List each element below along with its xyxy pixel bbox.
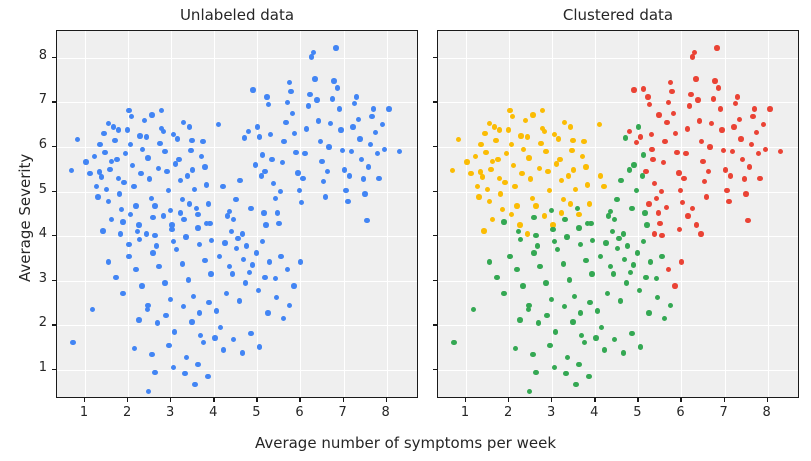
y-tick-mark [52, 324, 56, 325]
scatter-point [137, 237, 142, 242]
scatter-point [598, 173, 603, 178]
scatter-point [218, 325, 223, 330]
scatter-point [767, 106, 772, 111]
scatter-point [507, 254, 512, 259]
scatter-point [731, 124, 736, 129]
scatter-point [243, 280, 248, 285]
scatter-point [517, 222, 522, 227]
scatter-point [456, 137, 461, 142]
scatter-point [234, 246, 239, 251]
y-tick-mark [433, 324, 437, 325]
scatter-point [204, 182, 209, 187]
scatter-point [533, 203, 538, 208]
y-tick-mark [52, 101, 56, 102]
scatter-point [526, 307, 531, 312]
scatter-point [149, 112, 154, 117]
scatter-point [260, 239, 265, 244]
gridline-horizontal [57, 370, 417, 371]
scatter-point [699, 139, 704, 144]
scatter-point [638, 344, 643, 349]
scatter-point [206, 201, 211, 206]
scatter-point [641, 86, 646, 91]
scatter-point [382, 147, 387, 152]
scatter-point [602, 347, 607, 352]
y-tick-label: 3 [23, 271, 47, 286]
scatter-point [271, 181, 276, 186]
scatter-point [173, 161, 178, 166]
x-tick-label: 4 [201, 405, 225, 420]
scatter-point [281, 139, 286, 144]
scatter-point [563, 371, 568, 376]
y-tick-label: 4 [23, 226, 47, 241]
scatter-point [500, 207, 505, 212]
scatter-point [587, 300, 592, 305]
scatter-point [750, 114, 755, 119]
scatter-point [376, 176, 381, 181]
scatter-point [612, 337, 617, 342]
y-tick-mark [433, 101, 437, 102]
scatter-point [198, 333, 203, 338]
scatter-point [646, 201, 651, 206]
scatter-point [544, 313, 549, 318]
scatter-point [562, 217, 567, 222]
x-tick-mark [724, 398, 725, 402]
scatter-point [464, 159, 469, 164]
scatter-point [624, 280, 629, 285]
scatter-point [695, 97, 700, 102]
scatter-point [666, 267, 671, 272]
scatter-point [185, 173, 190, 178]
scatter-point [628, 270, 633, 275]
scatter-point [114, 157, 119, 162]
x-tick-label: 8 [374, 405, 398, 420]
scatter-point [180, 261, 185, 266]
scatter-point [171, 365, 176, 370]
scatter-point [164, 169, 169, 174]
scatter-point [152, 370, 157, 375]
scatter-point [569, 148, 574, 153]
scatter-point [119, 207, 124, 212]
scatter-point [259, 173, 264, 178]
scatter-point [144, 231, 149, 236]
scatter-point [169, 222, 174, 227]
scatter-point [144, 134, 149, 139]
scatter-point [288, 89, 293, 94]
scatter-point [659, 233, 664, 238]
scatter-point [235, 236, 240, 241]
scatter-point [285, 267, 290, 272]
scatter-point [183, 234, 188, 239]
scatter-point [126, 242, 131, 247]
scatter-point [187, 124, 192, 129]
scatter-point [195, 225, 200, 230]
scatter-point [162, 280, 167, 285]
scatter-point [745, 218, 750, 223]
scatter-point [740, 157, 745, 162]
scatter-point [186, 277, 191, 282]
x-tick-label: 1 [72, 405, 96, 420]
y-tick-label: 7 [23, 92, 47, 107]
scatter-point [615, 246, 620, 251]
scatter-point [716, 85, 721, 90]
x-tick-mark [343, 398, 344, 402]
scatter-point [117, 191, 122, 196]
scatter-point [328, 121, 333, 126]
scatter-point [599, 325, 604, 330]
scatter-point [649, 147, 654, 152]
scatter-point [747, 164, 752, 169]
scatter-point [557, 157, 562, 162]
scatter-point [654, 196, 659, 201]
scatter-point [292, 131, 297, 136]
y-tick-mark [433, 235, 437, 236]
scatter-point [283, 120, 288, 125]
scatter-point [287, 80, 292, 85]
scatter-point [237, 178, 242, 183]
scatter-point [468, 171, 473, 176]
x-tick-label: 7 [712, 405, 736, 420]
scatter-point [587, 201, 592, 206]
scatter-point [264, 94, 269, 99]
scatter-point [565, 355, 570, 360]
scatter-point [333, 45, 338, 50]
scatter-point [554, 161, 559, 166]
scatter-point [621, 350, 626, 355]
scatter-point [349, 149, 354, 154]
scatter-point [139, 283, 144, 288]
y-tick-label: 1 [23, 360, 47, 375]
scatter-point [635, 250, 640, 255]
scatter-point [576, 225, 581, 230]
scatter-point [130, 163, 135, 168]
scatter-point [533, 233, 538, 238]
scatter-point [540, 108, 545, 113]
scatter-point [578, 242, 583, 247]
scatter-point [357, 136, 362, 141]
scatter-point [678, 188, 683, 193]
scatter-point [517, 317, 522, 322]
scatter-point [641, 239, 646, 244]
y-tick-label: 8 [23, 48, 47, 63]
scatter-point [659, 189, 664, 194]
scatter-point [281, 316, 286, 321]
scatter-point [559, 178, 564, 183]
scatter-point [664, 205, 669, 210]
scatter-point [181, 120, 186, 125]
x-tick-mark [637, 398, 638, 402]
scatter-point [536, 320, 541, 325]
gridline-vertical [344, 31, 345, 397]
scatter-point [562, 304, 567, 309]
scatter-point [263, 222, 268, 227]
scatter-point [356, 117, 361, 122]
scatter-point [335, 85, 340, 90]
scatter-point [564, 234, 569, 239]
scatter-point [345, 199, 350, 204]
scatter-point [730, 149, 735, 154]
scatter-point [756, 151, 761, 156]
scatter-point [627, 167, 632, 172]
scatter-point [248, 331, 253, 336]
scatter-point [649, 132, 654, 137]
scatter-point [573, 382, 578, 387]
gridline-horizontal [57, 58, 417, 59]
scatter-point [262, 275, 267, 280]
scatter-point [488, 167, 493, 172]
scatter-point [531, 215, 536, 220]
scatter-point [201, 340, 206, 345]
scatter-point [386, 106, 391, 111]
scatter-point [133, 267, 138, 272]
scatter-point [688, 92, 693, 97]
scatter-point [138, 171, 143, 176]
scatter-point [326, 144, 331, 149]
scatter-point [556, 136, 561, 141]
scatter-point [702, 179, 707, 184]
scatter-point [605, 291, 610, 296]
scatter-point [318, 139, 323, 144]
gridline-vertical [466, 31, 467, 397]
scatter-point [231, 337, 236, 342]
scatter-point [586, 374, 591, 379]
scatter-point [629, 331, 634, 336]
scatter-point [618, 298, 623, 303]
scatter-point [268, 132, 273, 137]
scatter-point [266, 102, 271, 107]
scatter-point [656, 112, 661, 117]
scatter-point [606, 213, 611, 218]
scatter-point [711, 96, 716, 101]
scatter-point [671, 111, 676, 116]
scatter-point [672, 283, 677, 288]
x-tick-mark [465, 398, 466, 402]
panel-title-unlabeled: Unlabeled data [56, 6, 418, 24]
scatter-point [202, 164, 207, 169]
y-tick-label: 5 [23, 182, 47, 197]
scatter-point [135, 229, 140, 234]
scatter-point [247, 270, 252, 275]
scatter-point [666, 100, 671, 105]
scatter-point [685, 126, 690, 131]
scatter-point [487, 259, 492, 264]
scatter-point [182, 371, 187, 376]
scatter-point [189, 319, 194, 324]
scatter-point [254, 250, 259, 255]
scatter-point [154, 243, 159, 248]
gridline-vertical [257, 31, 258, 397]
scatter-point [369, 114, 374, 119]
y-tick-mark [52, 280, 56, 281]
scatter-point [276, 221, 281, 226]
scatter-point [190, 167, 195, 172]
scatter-point [242, 135, 247, 140]
scatter-point [523, 118, 528, 123]
scatter-point [552, 239, 557, 244]
scatter-point [641, 152, 646, 157]
scatter-point [601, 184, 606, 189]
figure-container: Unlabeled data Clustered data Average nu… [0, 0, 811, 461]
scatter-point [531, 250, 536, 255]
scatter-point [371, 106, 376, 111]
scatter-point [723, 167, 728, 172]
scatter-point [593, 335, 598, 340]
scatter-point [627, 129, 632, 134]
scatter-point [121, 180, 126, 185]
scatter-point [514, 267, 519, 272]
gridline-vertical [387, 31, 388, 397]
scatter-point [568, 124, 573, 129]
scatter-point [578, 310, 583, 315]
scatter-point [206, 300, 211, 305]
scatter-point [525, 231, 530, 236]
scatter-point [761, 122, 766, 127]
scatter-point [537, 264, 542, 269]
scatter-point [205, 374, 210, 379]
x-tick-mark [84, 398, 85, 402]
scatter-point [94, 184, 99, 189]
y-tick-mark [433, 369, 437, 370]
x-tick-label: 1 [453, 405, 477, 420]
y-tick-mark [52, 146, 56, 147]
scatter-point [230, 271, 235, 276]
gridline-horizontal [57, 325, 417, 326]
scatter-point [575, 206, 580, 211]
scatter-point [543, 280, 548, 285]
scatter-point [321, 179, 326, 184]
scatter-point [580, 154, 585, 159]
scatter-point [631, 87, 636, 92]
scatter-point [490, 217, 495, 222]
scatter-point [629, 206, 634, 211]
scatter-point [704, 194, 709, 199]
scatter-point [293, 150, 298, 155]
gridline-horizontal [57, 102, 417, 103]
gridline-horizontal [438, 370, 798, 371]
scatter-point [493, 138, 498, 143]
scatter-point [547, 343, 552, 348]
scatter-point [595, 308, 600, 313]
scatter-point [120, 219, 125, 224]
scatter-point [375, 151, 380, 156]
scatter-point [255, 124, 260, 129]
scatter-point [147, 176, 152, 181]
scatter-point [714, 45, 719, 50]
scatter-point [273, 196, 278, 201]
scatter-point [640, 173, 645, 178]
scatter-point [501, 291, 506, 296]
x-tick-mark [127, 398, 128, 402]
scatter-point [737, 117, 742, 122]
scatter-point [530, 352, 535, 357]
scatter-point [562, 120, 567, 125]
y-tick-label: 6 [23, 137, 47, 152]
scatter-point [338, 127, 343, 132]
x-tick-mark [767, 398, 768, 402]
gridline-vertical [300, 31, 301, 397]
scatter-point [611, 271, 616, 276]
y-tick-mark [433, 191, 437, 192]
scatter-point [668, 80, 673, 85]
scatter-point [518, 237, 523, 242]
scatter-point [342, 167, 347, 172]
scatter-point [304, 126, 309, 131]
x-tick-mark [213, 398, 214, 402]
scatter-point [561, 261, 566, 266]
scatter-point [150, 215, 155, 220]
scatter-point [583, 258, 588, 263]
scatter-point [494, 275, 499, 280]
gridline-vertical [768, 31, 769, 397]
scatter-point [297, 188, 302, 193]
scatter-point [246, 129, 251, 134]
scatter-point [181, 304, 186, 309]
gridline-vertical [595, 31, 596, 397]
scatter-point [191, 294, 196, 299]
x-tick-mark [680, 398, 681, 402]
scatter-point [728, 173, 733, 178]
y-tick-mark [52, 57, 56, 58]
scatter-point [101, 131, 106, 136]
scatter-point [237, 298, 242, 303]
scatter-point [506, 127, 511, 132]
scatter-point [275, 210, 280, 215]
scatter-point [140, 147, 145, 152]
gridline-horizontal [438, 102, 798, 103]
scatter-point [579, 333, 584, 338]
scatter-point [471, 307, 476, 312]
scatter-point [195, 212, 200, 217]
scatter-point [561, 197, 566, 202]
scatter-point [352, 101, 357, 106]
scatter-point [680, 200, 685, 205]
gridline-horizontal [57, 147, 417, 148]
scatter-point [621, 231, 626, 236]
scatter-point [549, 208, 554, 213]
y-tick-mark [52, 235, 56, 236]
scatter-point [132, 346, 137, 351]
scatter-point [126, 254, 131, 259]
scatter-point [241, 257, 246, 262]
scatter-point [487, 199, 492, 204]
gridline-vertical [214, 31, 215, 397]
scatter-point [709, 121, 714, 126]
x-tick-label: 2 [115, 405, 139, 420]
panel-title-clustered: Clustered data [437, 6, 799, 24]
scatter-point [697, 118, 702, 123]
scatter-point [113, 275, 118, 280]
scatter-point [361, 176, 366, 181]
scatter-point [136, 317, 141, 322]
scatter-point [662, 139, 667, 144]
scatter-point [550, 227, 555, 232]
scatter-point [231, 217, 236, 222]
scatter-point [634, 140, 639, 145]
gridline-vertical [85, 31, 86, 397]
scatter-point [257, 344, 262, 349]
scatter-point [225, 213, 230, 218]
scatter-point [162, 149, 167, 154]
scatter-point [661, 160, 666, 165]
scatter-point [181, 217, 186, 222]
scatter-point [145, 307, 150, 312]
scatter-point [152, 233, 157, 238]
scatter-point [298, 259, 303, 264]
scatter-point [537, 166, 542, 171]
scatter-point [87, 171, 92, 176]
scatter-point [128, 212, 133, 217]
scatter-point [583, 164, 588, 169]
scatter-point [257, 134, 262, 139]
